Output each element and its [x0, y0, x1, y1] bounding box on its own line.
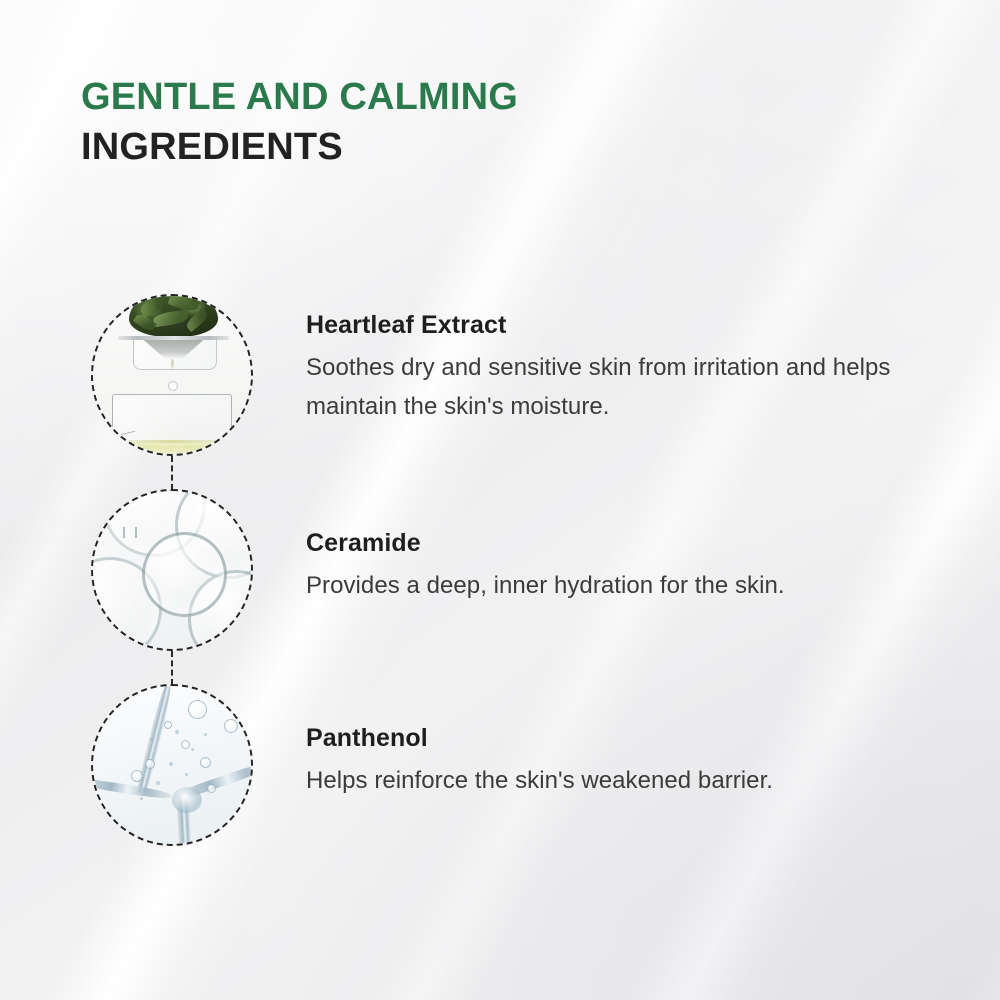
ingredient-title: Heartleaf Extract: [306, 310, 926, 340]
water-streams-photo: [91, 684, 253, 846]
ingredient-text-panthenol: Panthenol Helps reinforce the skin's wea…: [306, 723, 926, 801]
ingredient-title: Ceramide: [306, 528, 926, 558]
ingredient-text-ceramide: Ceramide Provides a deep, inner hydratio…: [306, 528, 926, 606]
ingredient-title: Panthenol: [306, 723, 926, 753]
ingredient-row-panthenol: Panthenol Helps reinforce the skin's wea…: [0, 684, 1000, 846]
ingredients-infographic: GENTLE AND CALMING INGREDIENTS: [0, 0, 1000, 1000]
ingredient-row-ceramide: Ceramide Provides a deep, inner hydratio…: [0, 489, 1000, 651]
heartleaf-strainer-beaker-photo: [91, 294, 253, 456]
glass-bubbles-photo: [91, 489, 253, 651]
connector-line-1: [171, 456, 173, 490]
ingredient-description: Soothes dry and sensitive skin from irri…: [306, 349, 926, 427]
ingredient-description: Provides a deep, inner hydration for the…: [306, 567, 926, 606]
ingredient-description: Helps reinforce the skin's weakened barr…: [306, 762, 926, 801]
connector-line-2: [171, 651, 173, 685]
ingredient-row-heartleaf-extract: Heartleaf Extract Soothes dry and sensit…: [0, 294, 1000, 456]
ingredient-list: Heartleaf Extract Soothes dry and sensit…: [0, 0, 1000, 1000]
ingredient-text-heartleaf-extract: Heartleaf Extract Soothes dry and sensit…: [306, 310, 926, 427]
